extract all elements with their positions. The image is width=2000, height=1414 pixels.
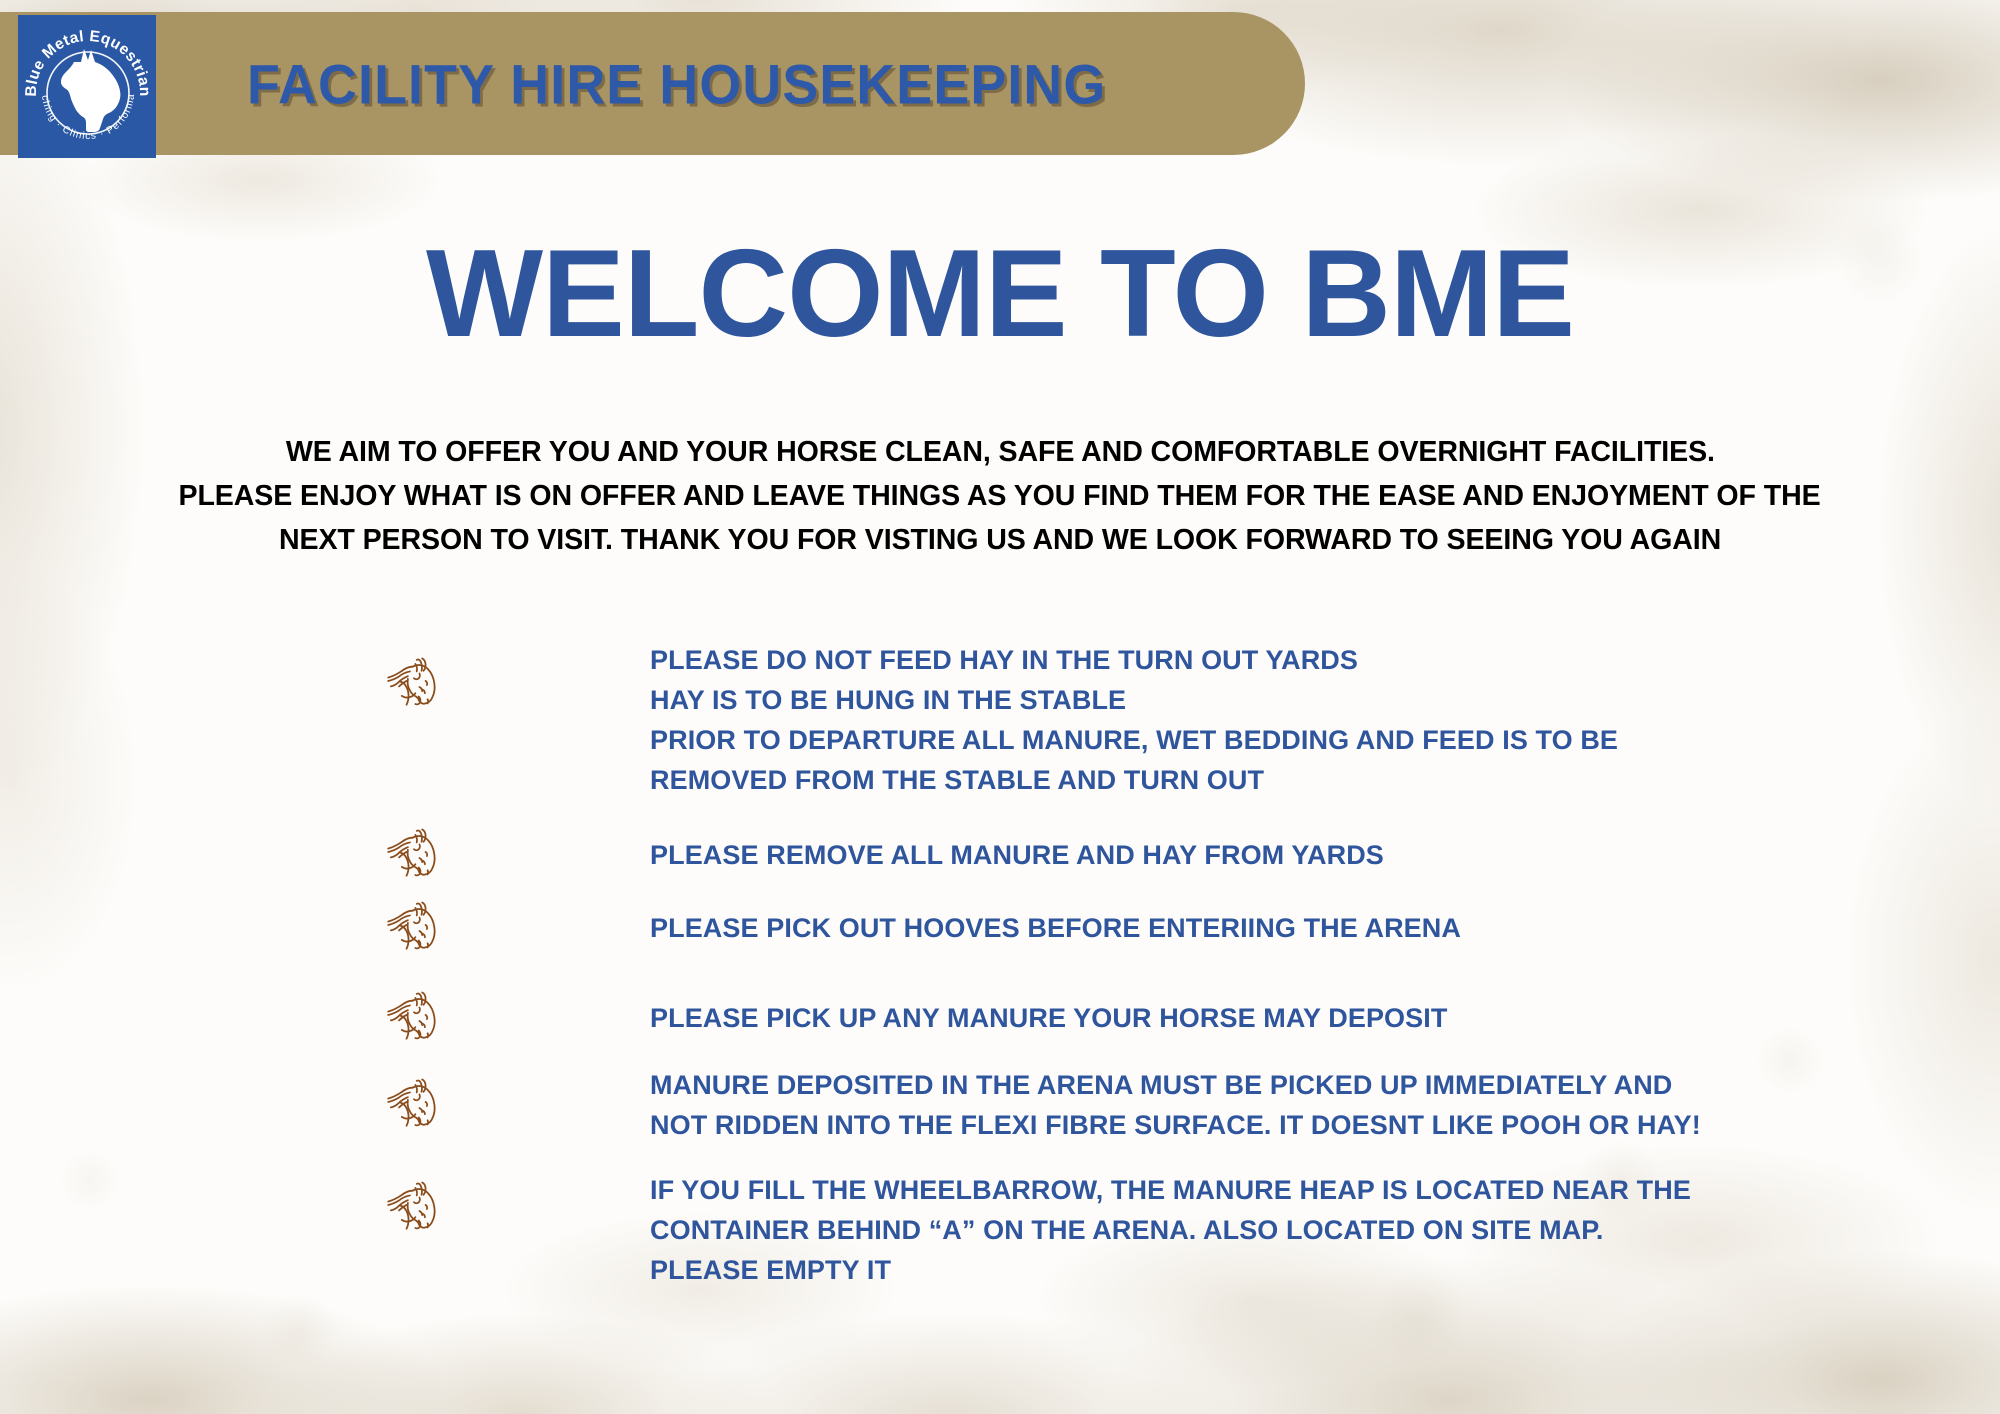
horse-head-icon <box>380 1070 448 1138</box>
horse-head-icon <box>380 649 448 717</box>
blue-metal-equestrian-logo: Blue Metal Equestrian Coaching · Clinics… <box>18 15 156 158</box>
horse-head-icon <box>380 1173 448 1241</box>
rule-text: IF YOU FILL THE WHEELBARROW, THE MANURE … <box>650 1170 1691 1290</box>
intro-line-2: PLEASE ENJOY WHAT IS ON OFFER AND LEAVE … <box>40 474 1960 518</box>
rule-text: PLEASE PICK UP ANY MANURE YOUR HORSE MAY… <box>650 998 1447 1038</box>
intro-paragraph: WE AIM TO OFFER YOU AND YOUR HORSE CLEAN… <box>40 430 1960 562</box>
rule-text: MANURE DEPOSITED IN THE ARENA MUST BE PI… <box>650 1065 1701 1145</box>
rule-text: PLEASE DO NOT FEED HAY IN THE TURN OUT Y… <box>650 640 1618 800</box>
rule-text: PLEASE PICK OUT HOOVES BEFORE ENTERIING … <box>650 908 1461 948</box>
rule-text: PLEASE REMOVE ALL MANURE AND HAY FROM YA… <box>650 835 1384 875</box>
page-title: WELCOME TO BME <box>0 232 2000 356</box>
intro-line-1: WE AIM TO OFFER YOU AND YOUR HORSE CLEAN… <box>40 430 1960 474</box>
intro-line-3: NEXT PERSON TO VISIT. THANK YOU FOR VIST… <box>40 518 1960 562</box>
poster-canvas: FACILITY HIRE HOUSEKEEPING Blue Metal Eq… <box>0 0 2000 1414</box>
header-banner: FACILITY HIRE HOUSEKEEPING <box>0 12 1305 155</box>
horse-head-icon <box>380 820 448 888</box>
header-title: FACILITY HIRE HOUSEKEEPING <box>247 51 1106 116</box>
horse-head-icon <box>380 983 448 1051</box>
horse-head-icon <box>380 893 448 961</box>
